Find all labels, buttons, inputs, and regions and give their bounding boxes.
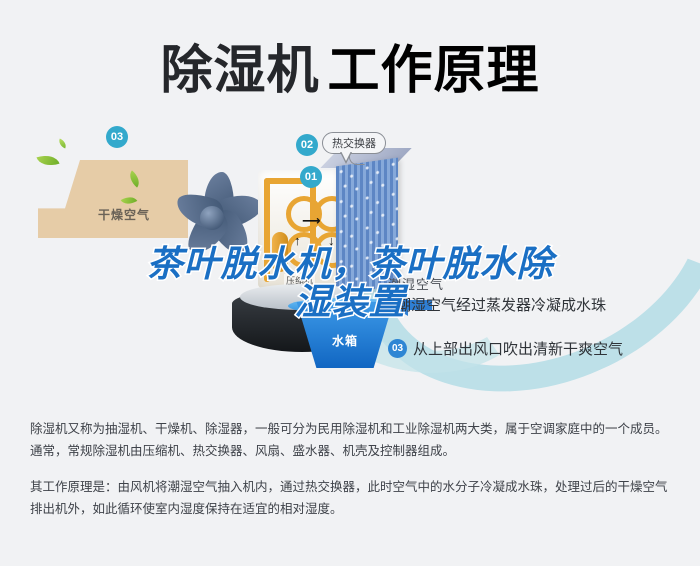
step-badge-03-dry-air: 03 bbox=[106, 126, 128, 148]
title-part-two: 工作原理 bbox=[328, 41, 540, 101]
dry-air-label: 干燥空气 bbox=[98, 206, 150, 223]
page-title: 除湿机工作原理 bbox=[0, 28, 700, 103]
watermark-overlay: 茶叶脱水机，茶叶脱水除 湿装置 bbox=[0, 246, 700, 322]
leaf-icon bbox=[57, 138, 68, 148]
caption-step-03: 03 从上部出风口吹出清新干爽空气 bbox=[388, 338, 623, 359]
body-paragraph-2: 其工作原理是：由风机将潮湿空气抽入机内，通过热交换器，此时空气中的水分子冷凝成水… bbox=[30, 476, 676, 520]
caption-03-text: 从上部出风口吹出清新干爽空气 bbox=[413, 338, 623, 359]
title-part-one: 除湿机 bbox=[160, 41, 319, 101]
callout-pointer-icon bbox=[340, 152, 352, 164]
step-badge-02-heat-exchanger: 02 bbox=[296, 134, 318, 156]
watermark-line-1: 茶叶脱水机，茶叶脱水除 bbox=[0, 246, 700, 284]
infographic-page: 除湿机工作原理 干燥空气 03 bbox=[0, 0, 700, 566]
caption-badge-03: 03 bbox=[388, 339, 407, 358]
fan-hub bbox=[200, 206, 224, 230]
watermark-line-2: 湿装置 bbox=[0, 284, 700, 322]
water-tank-label: 水箱 bbox=[332, 332, 358, 349]
body-paragraph-1: 除湿机又称为抽湿机、干燥机、除湿器，一般可分为民用除湿机和工业除湿机两大类，属于… bbox=[30, 418, 676, 462]
body-description: 除湿机又称为抽湿机、干燥机、除湿器，一般可分为民用除湿机和工业除湿机两大类，属于… bbox=[30, 418, 676, 520]
step-badge-01-humid-air: 01 bbox=[300, 166, 322, 188]
heat-exchanger-callout: 热交换器 bbox=[322, 132, 386, 154]
flow-arrow-right-icon: ⟶ bbox=[302, 214, 321, 227]
leaf-icon bbox=[36, 151, 59, 170]
